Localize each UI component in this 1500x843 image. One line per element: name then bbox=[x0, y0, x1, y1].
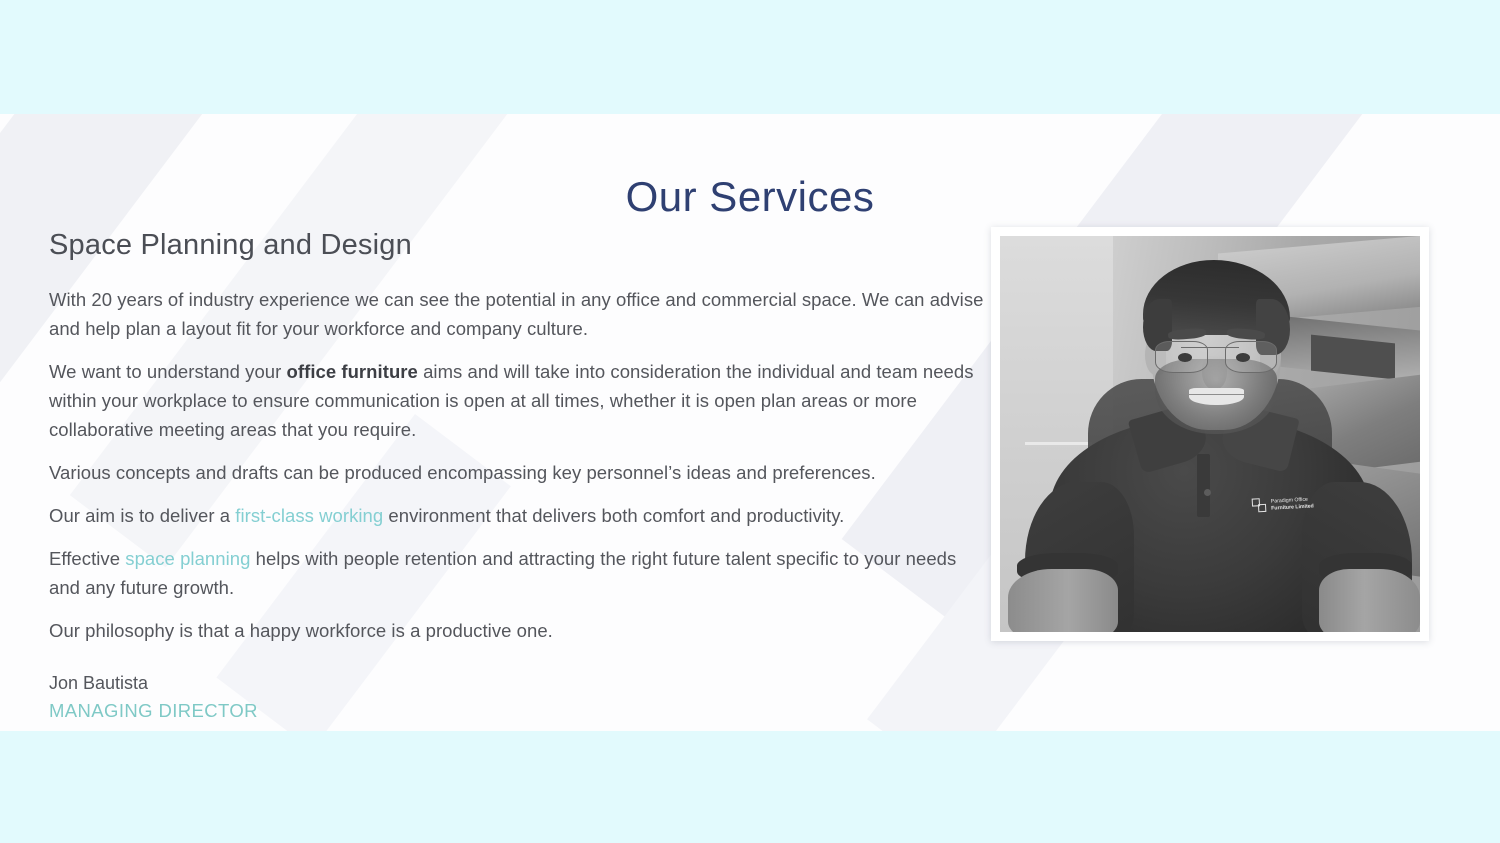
paragraph-text: With 20 years of industry experience we … bbox=[49, 289, 983, 339]
paragraph-philosophy: Our philosophy is that a happy workforce… bbox=[49, 616, 984, 645]
photo-glasses-bridge bbox=[1181, 347, 1240, 349]
signature-name: Jon Bautista bbox=[49, 669, 984, 697]
page-root: Our Services Space Planning and Design W… bbox=[0, 0, 1500, 843]
photo-forearm-left bbox=[1008, 569, 1117, 632]
bottom-color-band bbox=[0, 731, 1500, 843]
signature-role: MANAGING DIRECTOR bbox=[49, 697, 984, 725]
paradigm-squares-icon bbox=[1252, 498, 1268, 514]
photo-background-pillar-edge bbox=[1025, 442, 1092, 445]
paragraph-office-furniture: We want to understand your office furnit… bbox=[49, 357, 984, 444]
photo-forearm-right bbox=[1319, 569, 1420, 632]
paragraph-text: environment that delivers both comfort a… bbox=[383, 505, 844, 526]
bold-office-furniture: office furniture bbox=[287, 361, 418, 382]
photo-mouth-line bbox=[1189, 394, 1244, 395]
portrait-frame: Paradigm Office Furniture Limited bbox=[991, 227, 1429, 641]
paragraph-text: Our philosophy is that a happy workforce… bbox=[49, 620, 553, 641]
link-first-class-working[interactable]: first-class working bbox=[235, 505, 383, 526]
photo-shirt-placket bbox=[1197, 454, 1210, 517]
paragraph-concepts: Various concepts and drafts can be produ… bbox=[49, 458, 984, 487]
services-text-column: Space Planning and Design With 20 years … bbox=[49, 228, 984, 725]
signature-block: Jon Bautista MANAGING DIRECTOR bbox=[49, 669, 984, 725]
photo-scene: Paradigm Office Furniture Limited bbox=[1000, 236, 1420, 632]
top-color-band bbox=[0, 0, 1500, 114]
photo-glasses-lens-right bbox=[1225, 341, 1277, 373]
paragraph-text: Various concepts and drafts can be produ… bbox=[49, 462, 876, 483]
portrait-photo: Paradigm Office Furniture Limited bbox=[1000, 236, 1420, 632]
shirt-logo-text: Paradigm Office Furniture Limited bbox=[1271, 497, 1314, 512]
logo-square-lower bbox=[1258, 504, 1266, 512]
paragraph-text: We want to understand your bbox=[49, 361, 287, 382]
photo-glasses-icon bbox=[1155, 341, 1277, 373]
section-heading: Space Planning and Design bbox=[49, 228, 984, 263]
paragraph-text: Effective bbox=[49, 548, 125, 569]
paragraph-text: Our aim is to deliver a bbox=[49, 505, 235, 526]
paragraph-aim: Our aim is to deliver a first-class work… bbox=[49, 501, 984, 530]
link-space-planning[interactable]: space planning bbox=[125, 548, 250, 569]
page-title: Our Services bbox=[0, 173, 1500, 221]
paragraph-intro: With 20 years of industry experience we … bbox=[49, 285, 984, 343]
shirt-logo-line-2: Furniture Limited bbox=[1271, 503, 1314, 512]
paragraph-effective-space-planning: Effective space planning helps with peop… bbox=[49, 544, 984, 602]
